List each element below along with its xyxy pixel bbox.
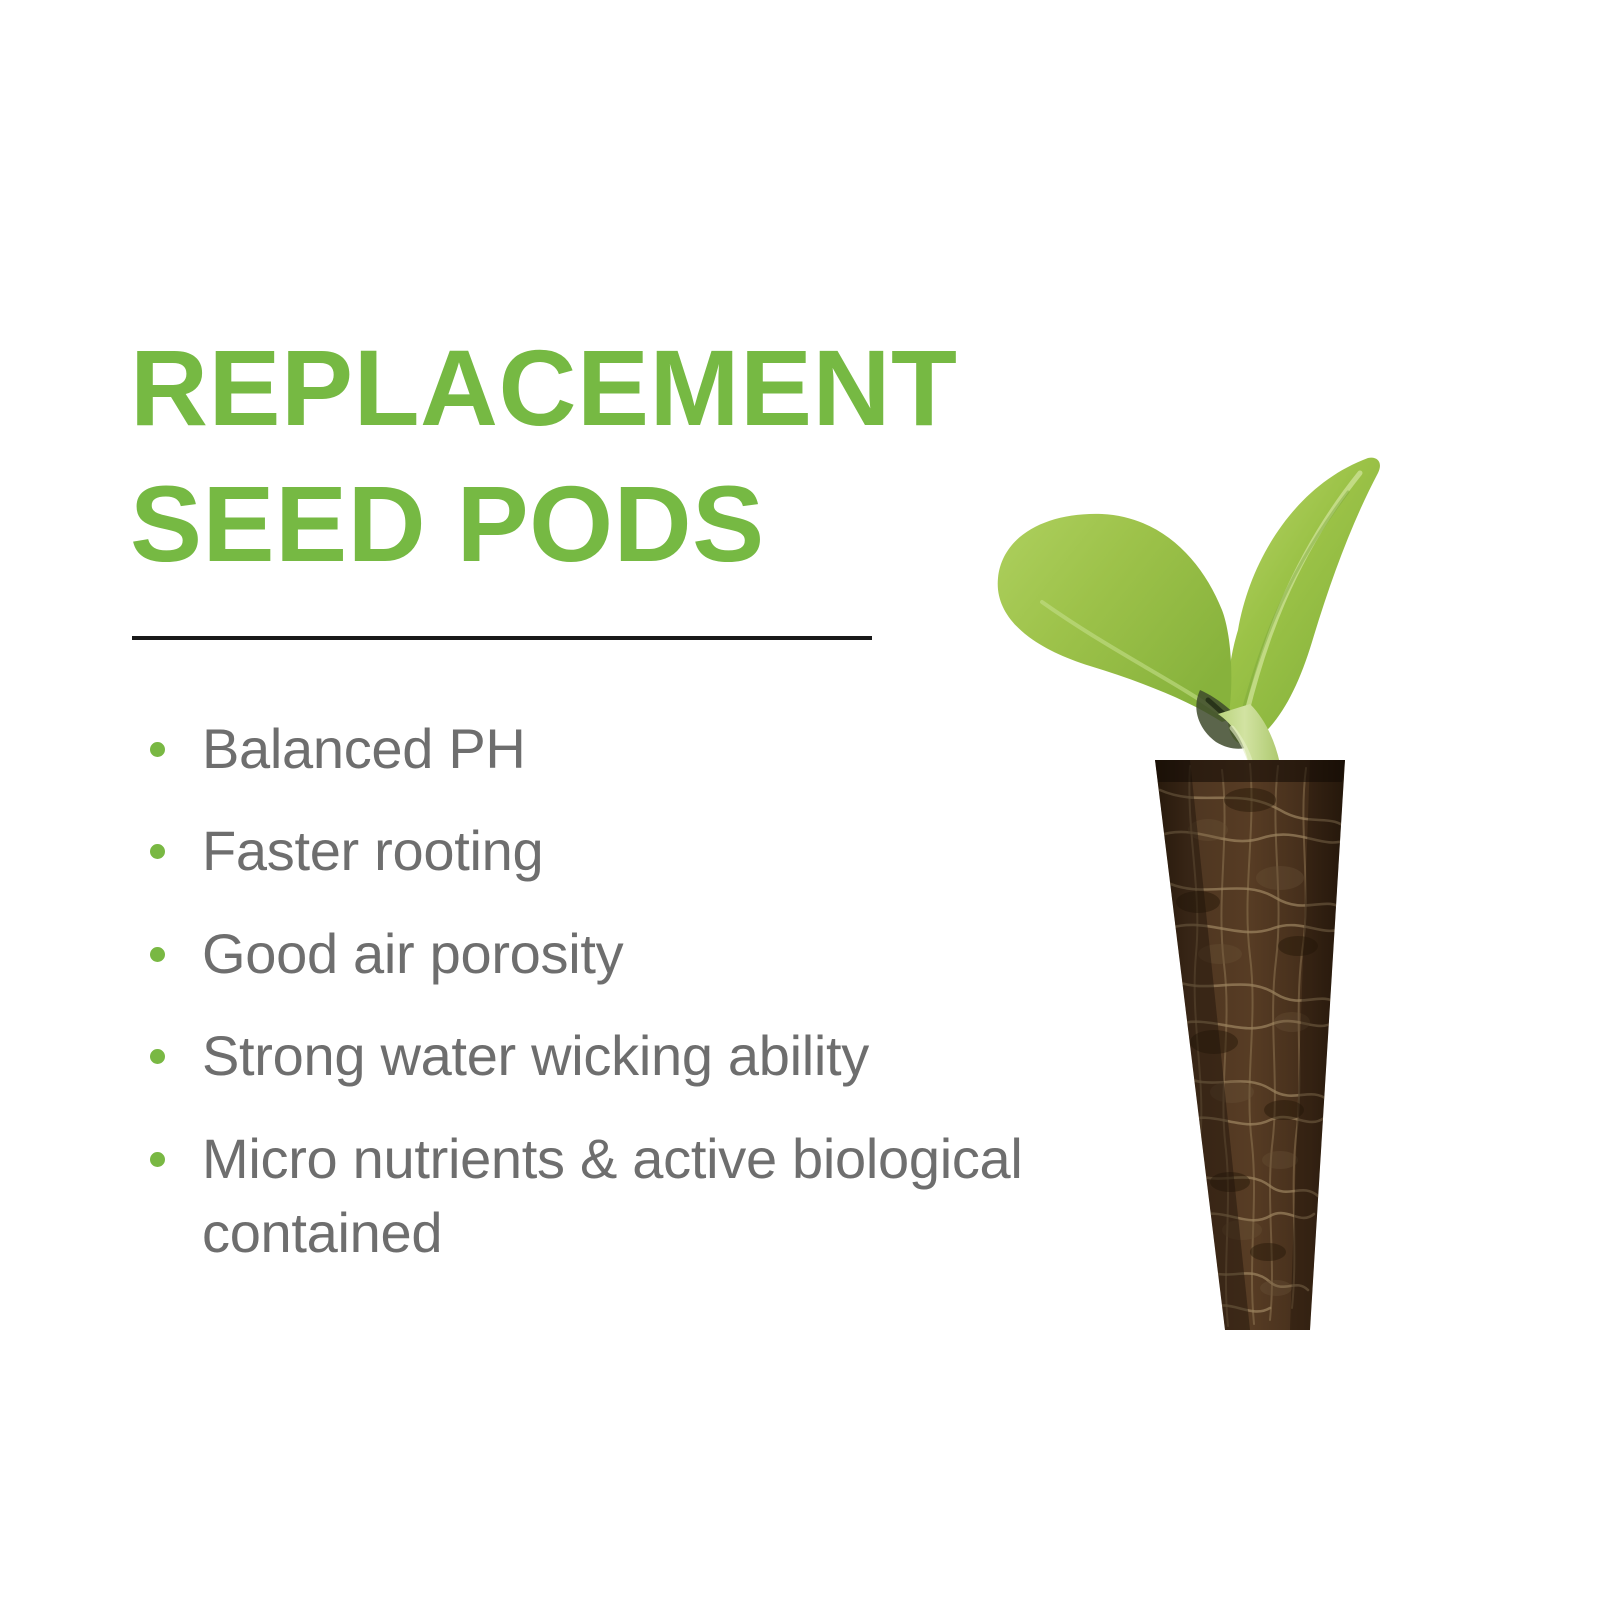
list-item-label: Strong water wicking ability — [202, 1024, 869, 1087]
bullet-dot-icon — [150, 947, 165, 962]
list-item: Strong water wicking ability — [140, 1019, 1060, 1093]
divider — [132, 636, 872, 640]
seedling-in-seed-pod-image — [950, 230, 1420, 1360]
feature-list: Balanced PH Faster rooting Good air poro… — [140, 712, 1060, 1299]
leaf-left-icon — [998, 514, 1232, 722]
list-item: Faster rooting — [140, 814, 1060, 888]
list-item: Micro nutrients & active biological cont… — [140, 1122, 1060, 1271]
bullet-dot-icon — [150, 1049, 165, 1064]
bullet-dot-icon — [150, 844, 165, 859]
headline-block: REPLACEMENT SEED PODS — [130, 320, 890, 592]
seed-pod-icon — [1155, 760, 1348, 1330]
list-item-label: Micro nutrients & active biological cont… — [202, 1127, 1023, 1264]
page-title: REPLACEMENT SEED PODS — [130, 320, 890, 592]
poster-canvas: REPLACEMENT SEED PODS Balanced PH Faster… — [0, 0, 1600, 1600]
leaf-right-icon — [1227, 458, 1379, 745]
bullet-dot-icon — [150, 742, 165, 757]
list-item-label: Balanced PH — [202, 717, 526, 780]
bullet-dot-icon — [150, 1152, 165, 1167]
list-item-label: Faster rooting — [202, 819, 543, 882]
list-item: Good air porosity — [140, 917, 1060, 991]
leaf-left-shape — [998, 514, 1232, 722]
list-item: Balanced PH — [140, 712, 1060, 786]
list-item-label: Good air porosity — [202, 922, 623, 985]
